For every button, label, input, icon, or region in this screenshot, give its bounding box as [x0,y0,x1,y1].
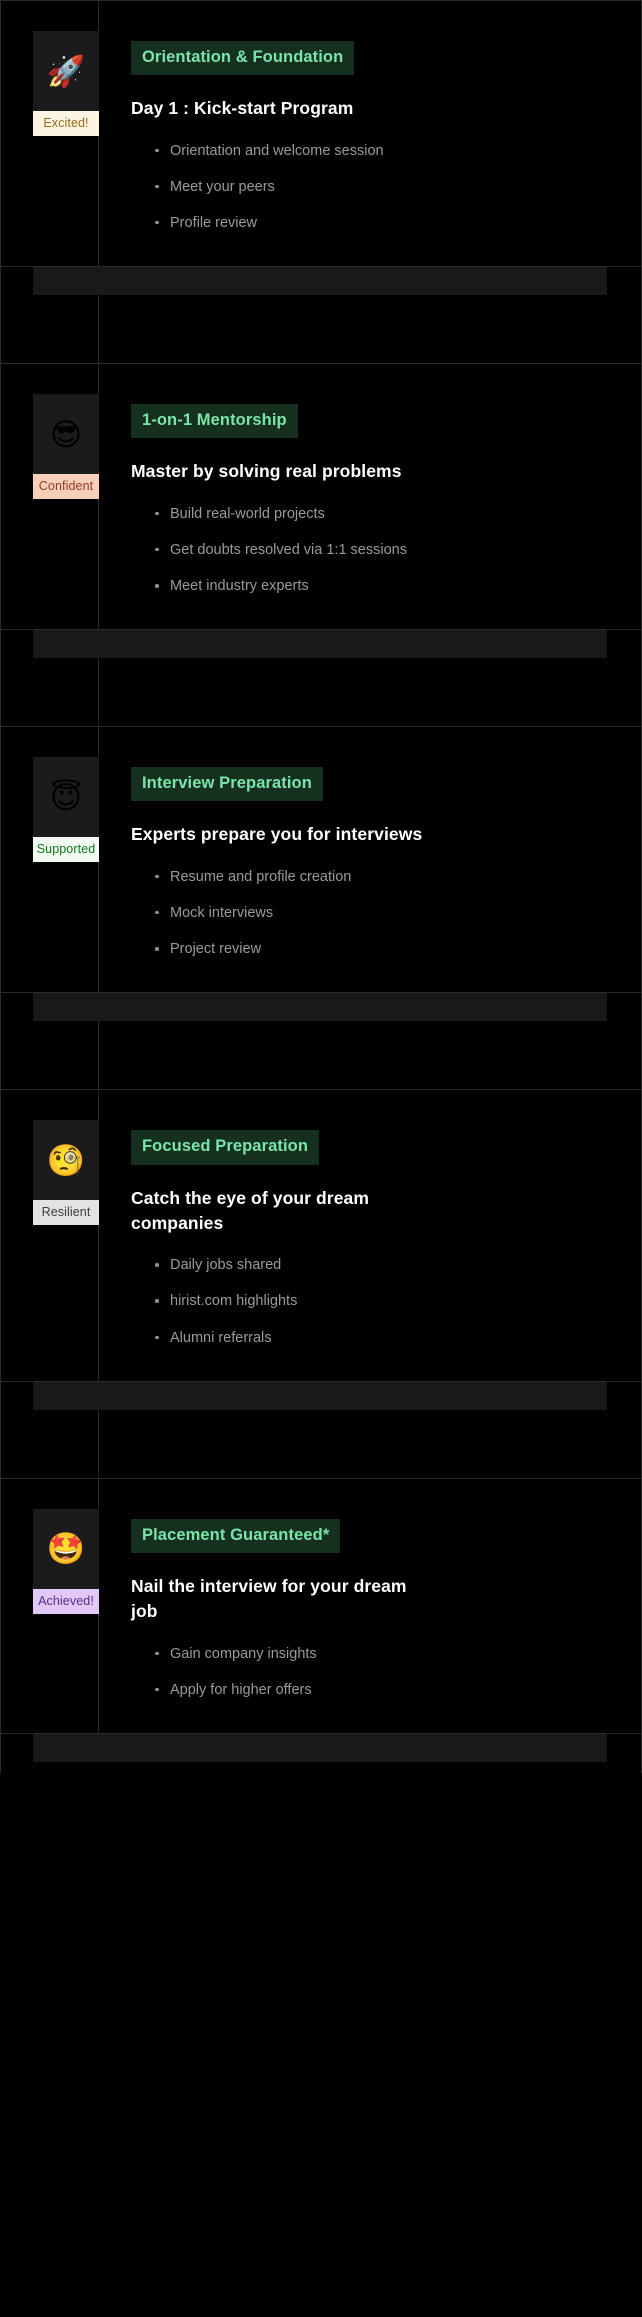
mood-badge: Confident [33,474,99,499]
step-title: Day 1 : Kick-start Program [131,96,431,121]
step-title: Experts prepare you for interviews [131,822,431,847]
timeline-step-content: Placement Guaranteed*Nail the interview … [99,1479,641,1733]
progress-bar-segment [33,267,607,295]
timeline-step-content: Orientation & FoundationDay 1 : Kick-sta… [99,1,641,266]
mood-badge: Supported [33,837,99,862]
progress-bar-segment [33,1382,607,1410]
timeline-step-content: Interview PreparationExperts prepare you… [99,727,641,992]
timeline-connector [0,992,642,1089]
step-bullet-item: Resume and profile creation [153,868,623,886]
timeline-step-rail: 😇Supported [1,727,99,992]
progress-bar-segment [33,993,607,1021]
step-bullet-item: Orientation and welcome session [153,142,623,160]
step-bullet-item: Mock interviews [153,904,623,922]
timeline-vertical-line [98,1410,99,1478]
timeline-step-rail: 🚀Excited! [1,1,99,266]
step-title: Nail the interview for your dream job [131,1574,431,1625]
phase-tag: Focused Preparation [131,1130,319,1164]
mood-indicator: 🧐Resilient [33,1120,99,1225]
monocle-face-emoji: 🧐 [33,1120,99,1200]
star-struck-emoji: 🤩 [33,1509,99,1589]
step-bullet-list: Gain company insightsApply for higher of… [131,1645,623,1699]
timeline-step: 😇SupportedInterview PreparationExperts p… [0,726,642,992]
step-bullet-item: hirist.com highlights [153,1292,623,1310]
sunglasses-face-emoji: 😎 [33,394,99,474]
step-bullet-item: Meet your peers [153,178,623,196]
timeline-step: 😎Confident1-on-1 MentorshipMaster by sol… [0,363,642,629]
step-bullet-item: Gain company insights [153,1645,623,1663]
timeline-step: 🧐ResilientFocused PreparationCatch the e… [0,1089,642,1380]
mood-badge: Achieved! [33,1589,99,1614]
step-bullet-item: Apply for higher offers [153,1681,623,1699]
step-bullet-item: Get doubts resolved via 1:1 sessions [153,541,623,559]
timeline-step-rail: 🤩Achieved! [1,1479,99,1733]
step-bullet-item: Alumni referrals [153,1329,623,1347]
mood-indicator: 🚀Excited! [33,31,99,136]
step-bullet-item: Build real-world projects [153,505,623,523]
step-bullet-list: Daily jobs sharedhirist.com highlightsAl… [131,1256,623,1346]
rocket-emoji: 🚀 [33,31,99,111]
step-bullet-list: Orientation and welcome sessionMeet your… [131,142,623,232]
timeline-connector [0,1381,642,1478]
step-bullet-list: Resume and profile creationMock intervie… [131,868,623,958]
mood-indicator: 😎Confident [33,394,99,499]
phase-tag: 1-on-1 Mentorship [131,404,298,438]
step-bullet-item: Project review [153,940,623,958]
timeline-step-content: 1-on-1 MentorshipMaster by solving real … [99,364,641,629]
mood-badge: Resilient [33,1200,99,1225]
mood-indicator: 🤩Achieved! [33,1509,99,1614]
timeline-connector [0,266,642,363]
phase-tag: Placement Guaranteed* [131,1519,340,1553]
timeline-step: 🚀Excited!Orientation & FoundationDay 1 :… [0,0,642,266]
step-bullet-list: Build real-world projectsGet doubts reso… [131,505,623,595]
step-bullet-item: Profile review [153,214,623,232]
timeline-step-content: Focused PreparationCatch the eye of your… [99,1090,641,1380]
mood-badge: Excited! [33,111,99,136]
timeline-connector [0,629,642,726]
step-bullet-item: Meet industry experts [153,577,623,595]
timeline-tail [0,1733,642,1773]
timeline-vertical-line [98,295,99,363]
progress-bar-segment [33,1734,607,1762]
timeline-step-rail: 🧐Resilient [1,1090,99,1380]
step-title: Master by solving real problems [131,459,431,484]
timeline-step: 🤩Achieved!Placement Guaranteed*Nail the … [0,1478,642,1733]
step-bullet-item: Daily jobs shared [153,1256,623,1274]
phase-tag: Orientation & Foundation [131,41,354,75]
program-journey-timeline: 🚀Excited!Orientation & FoundationDay 1 :… [0,0,642,1773]
step-title: Catch the eye of your dream companies [131,1186,431,1237]
phase-tag: Interview Preparation [131,767,323,801]
timeline-vertical-line [98,658,99,726]
timeline-step-rail: 😎Confident [1,364,99,629]
mood-indicator: 😇Supported [33,757,99,862]
progress-bar-segment [33,630,607,658]
timeline-vertical-line [98,1021,99,1089]
halo-face-emoji: 😇 [33,757,99,837]
